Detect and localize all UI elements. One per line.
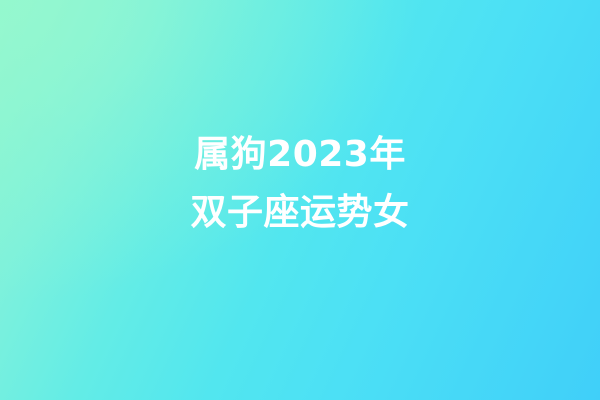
title-line-1: 属狗2023年: [24, 126, 576, 184]
banner-canvas: 属狗2023年 双子座运势女: [0, 0, 600, 400]
title-block: 属狗2023年 双子座运势女: [0, 126, 600, 242]
title-line-2: 双子座运势女: [24, 184, 576, 242]
